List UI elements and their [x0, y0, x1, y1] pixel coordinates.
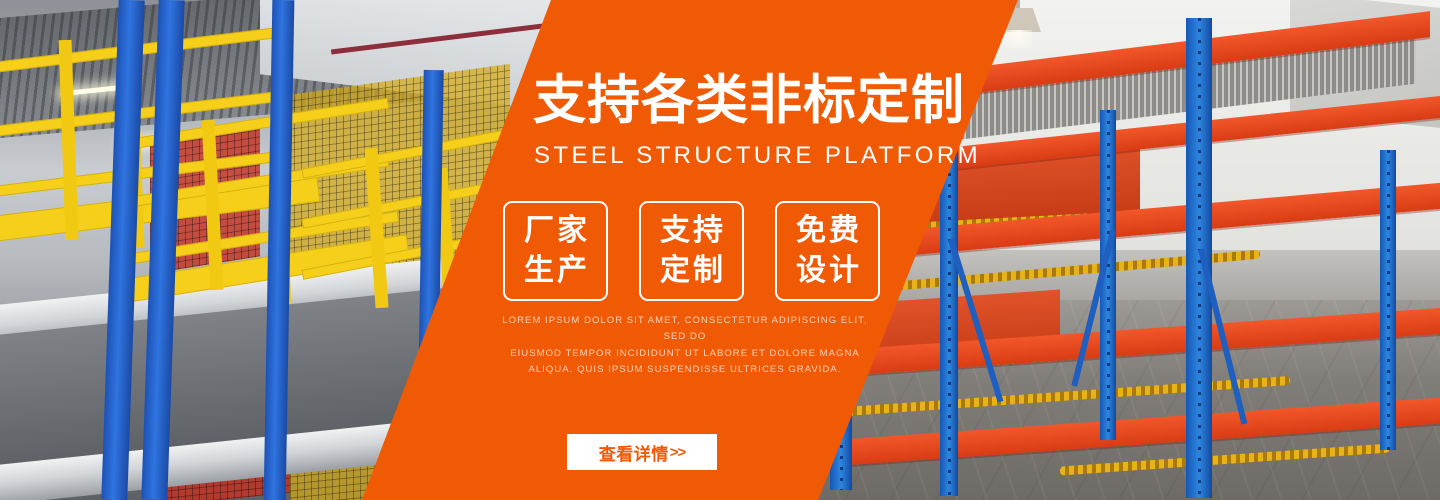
- feature-tag-line1: 支持: [657, 211, 726, 251]
- chevron-right-icon: >>: [670, 444, 686, 461]
- view-details-button[interactable]: 查看详情>>: [567, 434, 717, 470]
- subheadline: STEEL STRUCTURE PLATFORM: [534, 144, 981, 168]
- feature-tag-row: 厂家 生产 支持 定制 免费 设计: [503, 201, 880, 301]
- feature-tag-manufacturer[interactable]: 厂家 生产: [503, 201, 608, 301]
- feature-tag-line1: 厂家: [521, 211, 590, 251]
- feature-tag-free-design[interactable]: 免费 设计: [775, 201, 880, 301]
- view-details-label: 查看详情: [599, 440, 669, 465]
- feature-tag-line1: 免费: [793, 211, 862, 251]
- headline: 支持各类非标定制: [533, 74, 965, 127]
- promo-banner: 支持各类非标定制 STEEL STRUCTURE PLATFORM 厂家 生产 …: [0, 0, 1440, 500]
- banner-content: 支持各类非标定制 STEEL STRUCTURE PLATFORM 厂家 生产 …: [0, 0, 1440, 500]
- feature-tag-customization[interactable]: 支持 定制: [639, 201, 744, 301]
- feature-tag-line2: 定制: [657, 251, 726, 291]
- lorem-line-3: ALIQUA. QUIS IPSUM SUSPENDISSE ULTRICES …: [500, 362, 870, 378]
- feature-tag-line2: 设计: [793, 251, 862, 291]
- lorem-line-1: LOREM IPSUM DOLOR SIT AMET, CONSECTETUR …: [500, 313, 870, 346]
- lorem-line-2: EIUSMOD TEMPOR INCIDIDUNT UT LABORE ET D…: [500, 346, 870, 362]
- feature-tag-line2: 生产: [521, 251, 590, 291]
- lorem-paragraph: LOREM IPSUM DOLOR SIT AMET, CONSECTETUR …: [500, 313, 870, 378]
